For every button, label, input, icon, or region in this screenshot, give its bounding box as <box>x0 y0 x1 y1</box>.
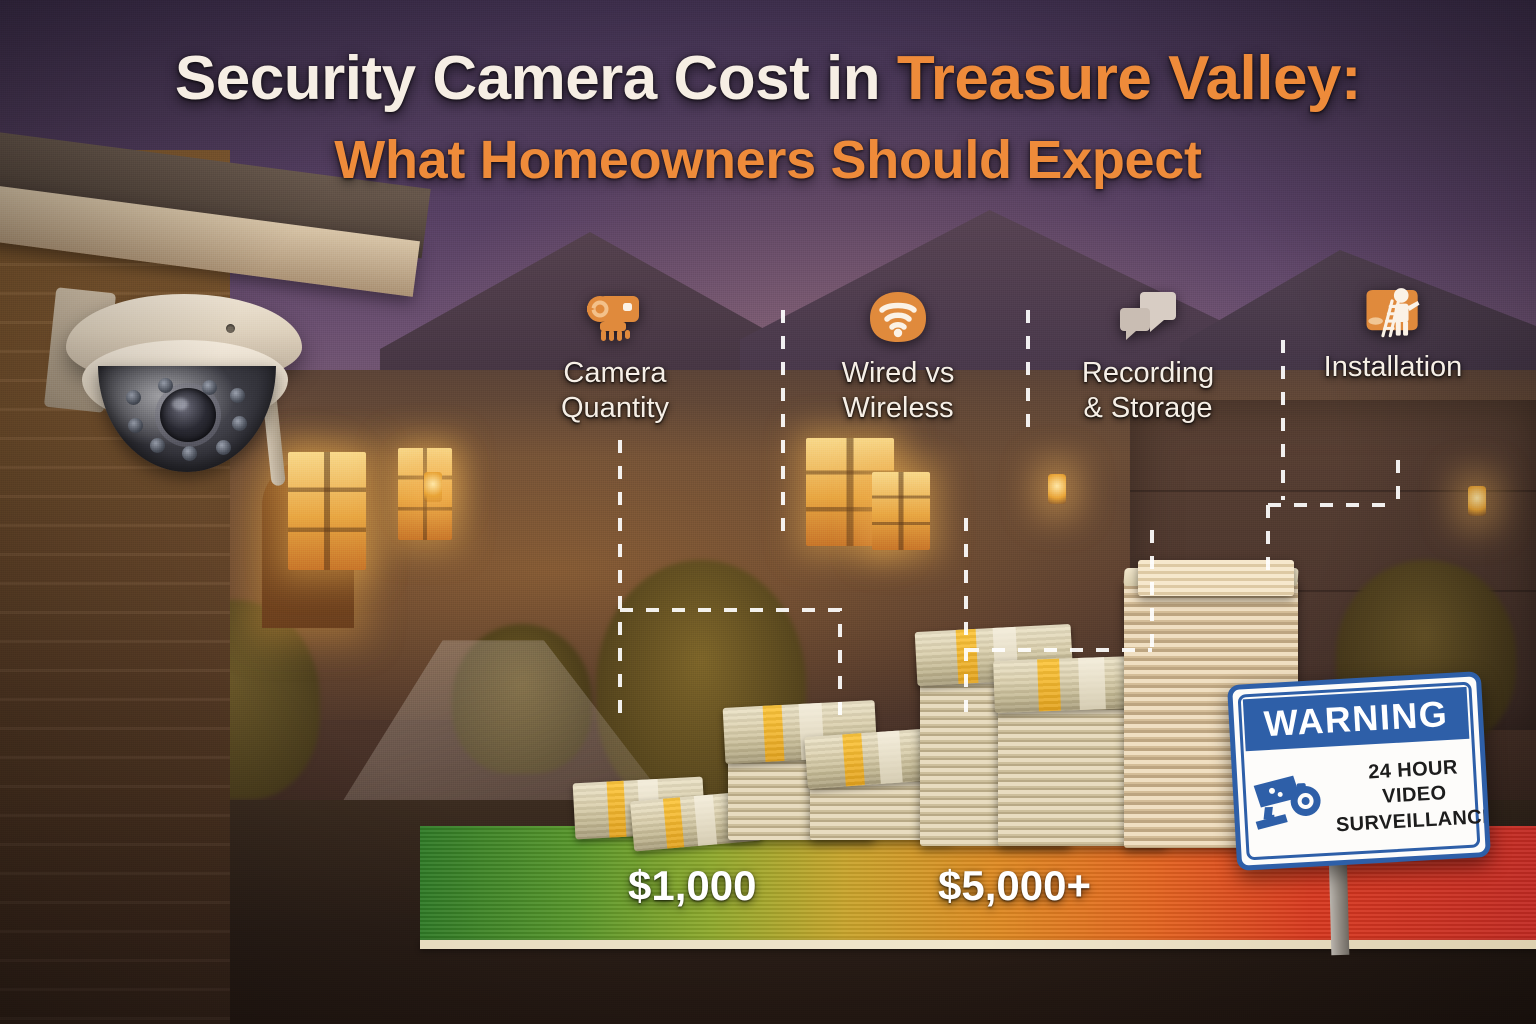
feature-recording-storage[interactable]: Recording & Storage <box>1043 288 1253 427</box>
security-camera-icon <box>583 288 647 346</box>
feature-camera-quantity[interactable]: Camera Quantity <box>510 288 720 427</box>
page-title-line-1: Security Camera Cost in Treasure Valley: <box>0 46 1536 111</box>
page-title-line-2: What Homeowners Should Expect <box>0 129 1536 191</box>
infographic-root: $1,000 $5,000+ WARNING <box>0 0 1536 1024</box>
feature-label-camera-quantity: Camera Quantity <box>510 356 720 427</box>
feature-label-installation: Installation <box>1288 350 1498 385</box>
feature-label-wired-vs-wireless: Wired vs Wireless <box>793 356 1003 427</box>
ladder-installer-icon <box>1361 282 1425 340</box>
title-white-part: Security Camera Cost in <box>175 44 897 113</box>
title-orange-part: Treasure Valley: <box>897 44 1361 113</box>
chat-bubbles-icon <box>1116 288 1180 346</box>
feature-wired-vs-wireless[interactable]: Wired vs Wireless <box>793 288 1003 427</box>
title-block: Security Camera Cost in Treasure Valley:… <box>0 46 1536 191</box>
wifi-icon <box>866 288 930 346</box>
feature-label-recording-storage: Recording & Storage <box>1043 356 1253 427</box>
feature-installation[interactable]: Installation <box>1288 282 1498 385</box>
